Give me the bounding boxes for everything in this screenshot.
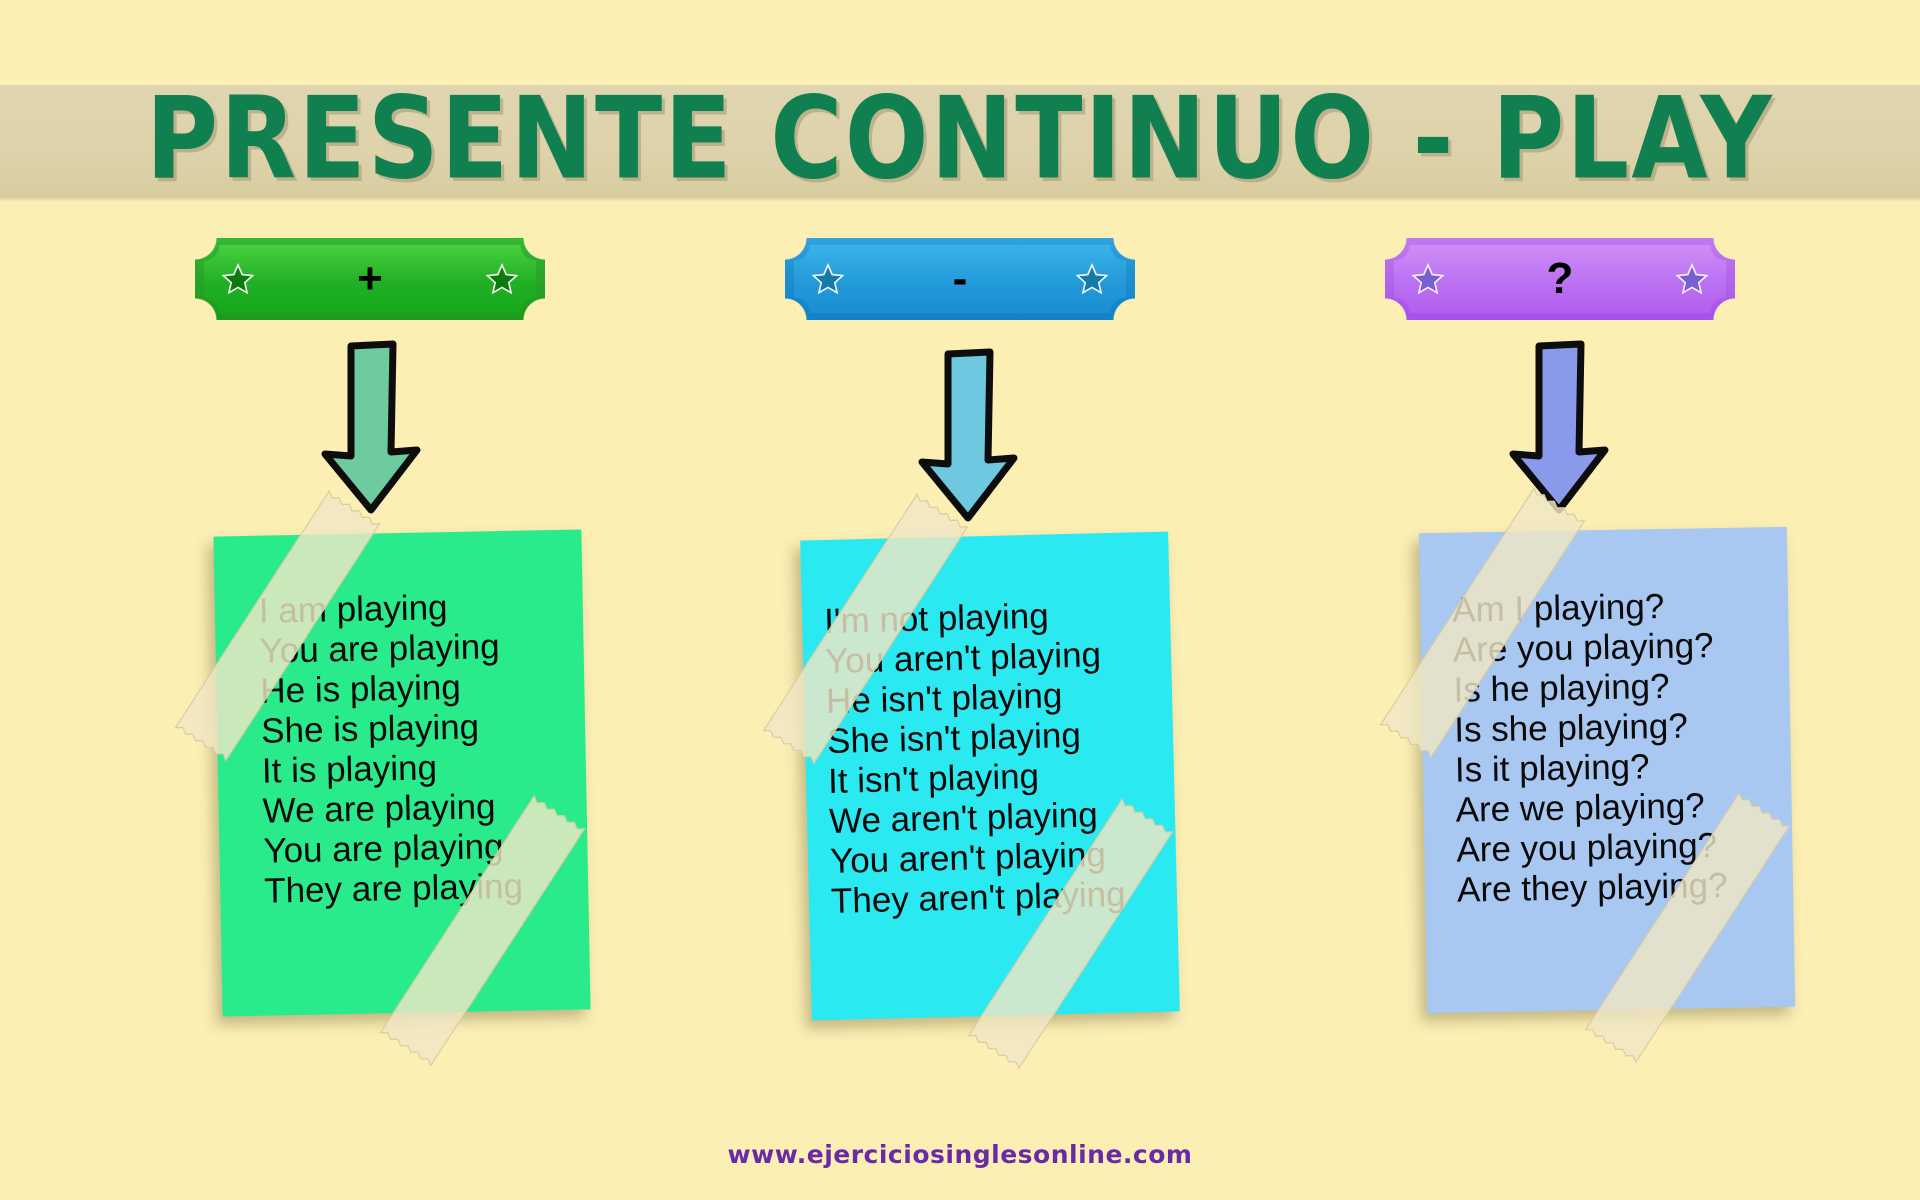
list-item: We are playing xyxy=(262,786,581,832)
column-negative: - I'm not playing You aren't playing He … xyxy=(610,0,1210,1200)
note-card-interrogative: Am I playing? Are you playing? Is he pla… xyxy=(1395,522,1795,1022)
badge-affirmative: + xyxy=(195,238,545,320)
badge-symbol-question: ? xyxy=(1385,238,1735,320)
conjugation-list: I'm not playing You aren't playing He is… xyxy=(824,594,1172,923)
list-item: Are we playing? xyxy=(1455,785,1786,831)
list-item: They aren't playing xyxy=(831,874,1172,922)
down-arrow-icon xyxy=(910,348,1026,523)
note-card-affirmative: I am playing You are playing He is playi… xyxy=(190,525,590,1025)
list-item: I am playing xyxy=(258,586,577,632)
list-item: Is she playing? xyxy=(1454,705,1785,751)
list-item: Am I playing? xyxy=(1452,585,1783,631)
list-item: She is playing xyxy=(261,706,580,752)
column-interrogative: ? Am I playing? Are you playing? Is he p… xyxy=(1210,0,1810,1200)
list-item: Is he playing? xyxy=(1453,665,1784,711)
badge-interrogative: ? xyxy=(1385,238,1735,320)
note-paper: I'm not playing You aren't playing He is… xyxy=(800,532,1180,1021)
list-item: Is it playing? xyxy=(1455,745,1786,791)
down-arrow-icon xyxy=(313,340,429,515)
badge-symbol-plus: + xyxy=(195,238,545,320)
list-item: Are they playing? xyxy=(1457,865,1788,911)
badge-symbol-minus: - xyxy=(785,238,1135,320)
conjugation-list: Am I playing? Are you playing? Is he pla… xyxy=(1452,585,1788,911)
conjugation-list: I am playing You are playing He is playi… xyxy=(258,586,582,913)
note-paper: Am I playing? Are you playing? Is he pla… xyxy=(1419,527,1795,1013)
list-item: They are playing xyxy=(264,866,583,912)
down-arrow-icon xyxy=(1501,340,1617,515)
list-item: You are playing xyxy=(259,626,578,672)
footer-website-url[interactable]: www.ejerciciosinglesonline.com xyxy=(0,1140,1920,1169)
column-affirmative: + I am playing You are playing He is pla… xyxy=(20,0,620,1200)
list-item: You are playing xyxy=(263,826,582,872)
list-item: It is playing xyxy=(262,746,581,792)
note-card-negative: I'm not playing You aren't playing He is… xyxy=(778,528,1178,1028)
list-item: Are you playing? xyxy=(1453,625,1784,671)
badge-negative: - xyxy=(785,238,1135,320)
note-paper: I am playing You are playing He is playi… xyxy=(213,530,590,1017)
list-item: He is playing xyxy=(260,666,579,712)
list-item: Are you playing? xyxy=(1456,825,1787,871)
